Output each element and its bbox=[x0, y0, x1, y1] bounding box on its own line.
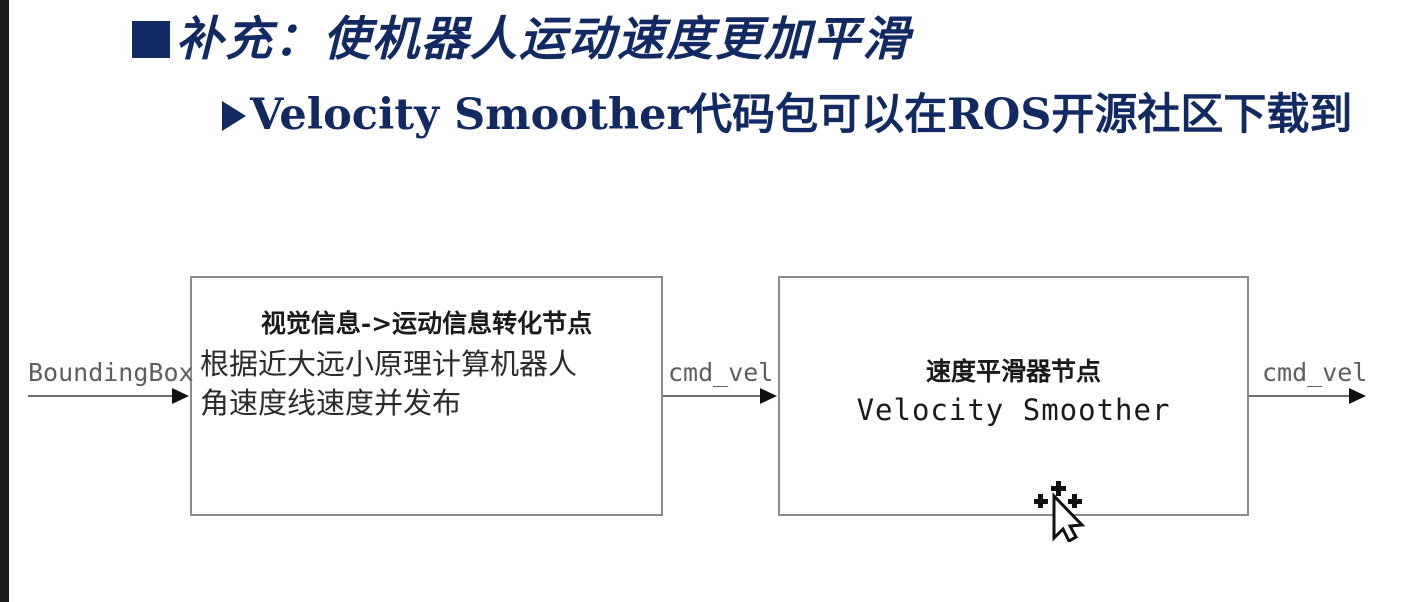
middle-arrow-label: cmd_vel bbox=[668, 358, 773, 387]
input-arrow bbox=[28, 386, 190, 406]
node-subtitle-smoother: Velocity Smoother bbox=[780, 391, 1247, 430]
triangle-bullet-icon bbox=[222, 101, 246, 131]
node-title-vision: 视觉信息->运动信息转化节点 bbox=[200, 308, 653, 341]
output-arrow bbox=[1249, 386, 1367, 406]
arrow-head-icon bbox=[760, 388, 777, 404]
slide-title-text: 补充：使机器人运动速度更加平滑 bbox=[176, 16, 911, 63]
arrow-shaft bbox=[28, 395, 173, 397]
arrow-head-icon bbox=[172, 388, 189, 404]
node-body-line-1: 根据近大远小原理计算机器人 bbox=[200, 345, 653, 384]
node-box-vision-to-motion[interactable]: 视觉信息->运动信息转化节点 根据近大远小原理计算机器人 角速度线速度并发布 bbox=[190, 276, 663, 516]
arrow-shaft bbox=[663, 395, 761, 397]
slide-title: 补充：使机器人运动速度更加平滑 bbox=[132, 16, 911, 63]
slide-subtitle: Velocity Smoother代码包可以在ROS开源社区下载到 bbox=[222, 94, 1352, 137]
node-box-velocity-smoother[interactable]: 速度平滑器节点 Velocity Smoother bbox=[778, 276, 1249, 516]
slide-subtitle-text: Velocity Smoother代码包可以在ROS开源社区下载到 bbox=[250, 94, 1352, 137]
middle-arrow bbox=[663, 386, 778, 406]
square-bullet-icon bbox=[132, 21, 170, 58]
node-title-smoother: 速度平滑器节点 bbox=[780, 356, 1247, 389]
left-edge-strip bbox=[0, 0, 9, 602]
input-arrow-label: BoundingBox bbox=[28, 358, 194, 387]
slide-canvas: 补充：使机器人运动速度更加平滑 Velocity Smoother代码包可以在R… bbox=[0, 0, 1414, 602]
output-arrow-label: cmd_vel bbox=[1262, 358, 1367, 387]
arrow-shaft bbox=[1249, 395, 1350, 397]
node-box-vision-content: 视觉信息->运动信息转化节点 根据近大远小原理计算机器人 角速度线速度并发布 bbox=[192, 308, 661, 423]
node-body-line-2: 角速度线速度并发布 bbox=[200, 384, 653, 423]
node-box-smoother-content: 速度平滑器节点 Velocity Smoother bbox=[780, 356, 1247, 430]
arrow-head-icon bbox=[1349, 388, 1366, 404]
